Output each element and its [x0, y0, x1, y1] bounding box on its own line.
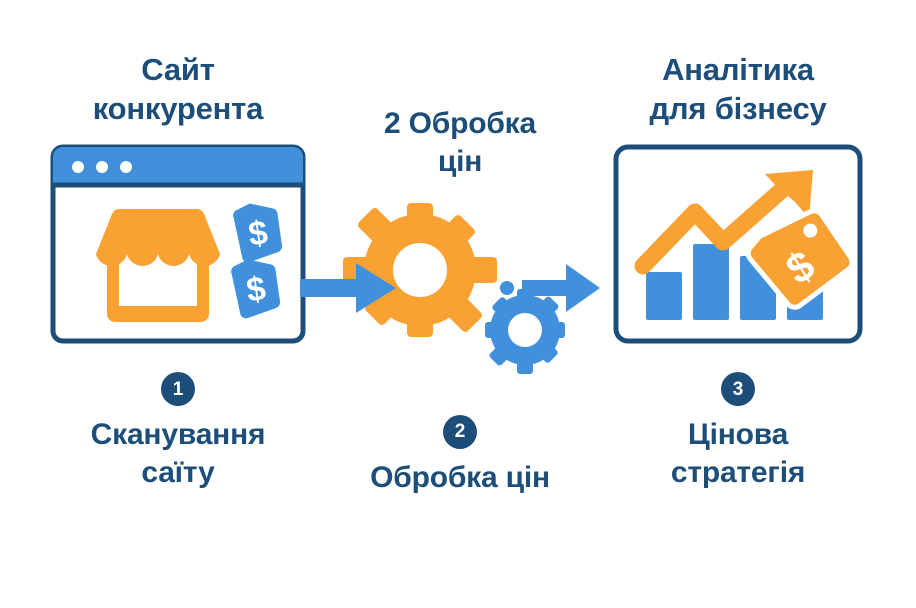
step-1-heading: Сайт конкурента	[58, 50, 298, 128]
step-2-heading: 2 Обробка цін	[360, 105, 560, 181]
process-diagram: Сайт конкурента	[0, 0, 916, 608]
window-dot	[72, 161, 84, 173]
step-1-badge: 1	[161, 372, 195, 406]
window-dot	[96, 161, 108, 173]
step-2-caption: Обробка цін	[370, 459, 550, 497]
window-dot	[120, 161, 132, 173]
arrow-tail-dot	[500, 281, 514, 295]
arrow-right-icon	[300, 258, 396, 318]
step-3-caption: Цінова стратегія	[671, 416, 805, 492]
step-3-badge: 3	[721, 372, 755, 406]
analytics-panel: $	[613, 144, 863, 344]
step-3-column: Аналітика для бізнесу	[608, 50, 868, 492]
step-1-column: Сайт конкурента	[48, 50, 308, 492]
step-3-heading: Аналітика для бізнесу	[613, 50, 863, 128]
arrow-right-dotted-icon	[500, 258, 600, 318]
step-1-caption: Сканування саїту	[91, 416, 266, 492]
browser-window-icon: $ $	[50, 144, 306, 344]
step-2-badge: 2	[443, 415, 477, 449]
